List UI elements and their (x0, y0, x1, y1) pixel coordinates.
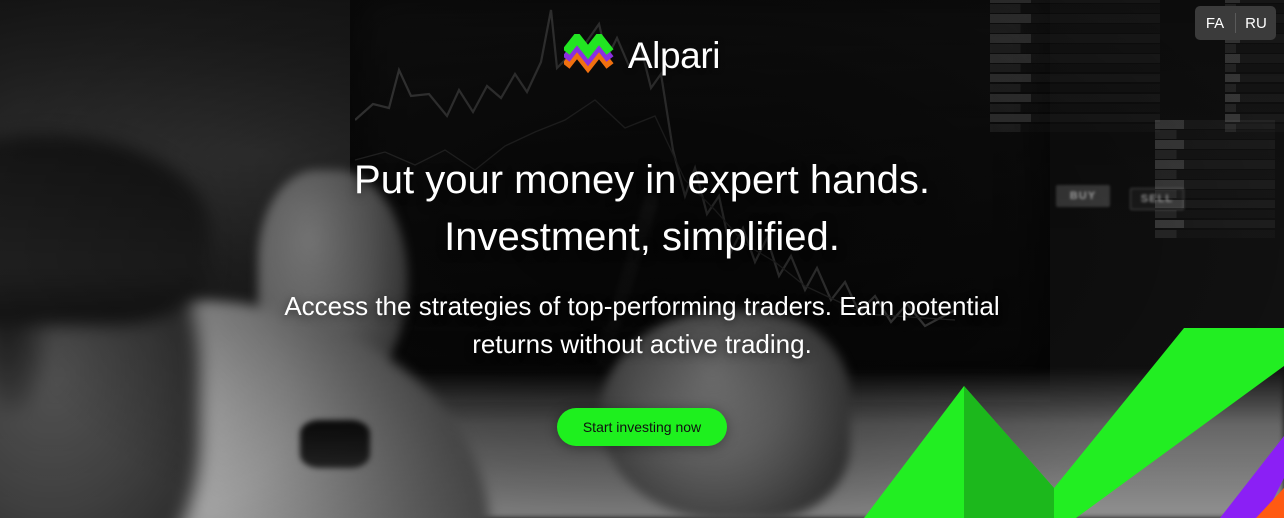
page-title: Put your money in expert hands. Investme… (0, 152, 1284, 266)
brand-lockup[interactable]: Alpari (0, 34, 1284, 78)
cta-container: Start investing now (0, 408, 1284, 446)
hero-section: BUY SELL FA RU (0, 0, 1284, 518)
language-switcher[interactable]: FA RU (1195, 6, 1276, 40)
hero-copy: Put your money in expert hands. Investme… (0, 152, 1284, 363)
language-button-fa[interactable]: FA (1195, 6, 1235, 40)
headline-line-1: Put your money in expert hands. (354, 158, 930, 202)
alpari-zigzag-logo-icon (564, 34, 616, 78)
start-investing-button[interactable]: Start investing now (557, 408, 727, 446)
headline-line-2: Investment, simplified. (444, 215, 840, 259)
language-button-ru[interactable]: RU (1236, 6, 1276, 40)
brand-name: Alpari (628, 35, 720, 77)
hero-subheadline: Access the strategies of top-performing … (247, 287, 1037, 363)
